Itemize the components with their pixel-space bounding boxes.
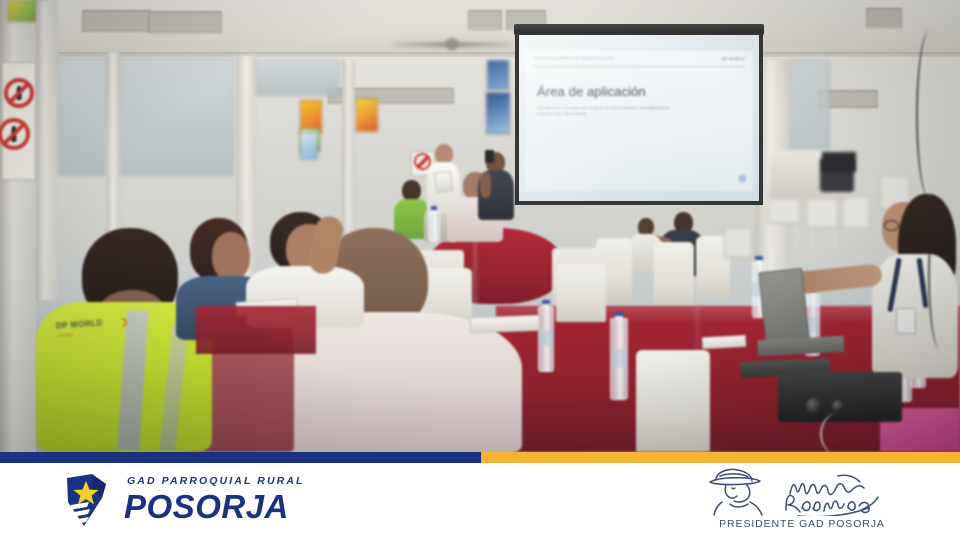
wall-artwork — [486, 92, 510, 134]
cable — [928, 200, 952, 350]
dp-world-logo: DP WORLD — [722, 56, 745, 61]
ceiling-fan-hub — [446, 38, 458, 50]
person-face — [212, 232, 250, 280]
plastic-chair — [724, 228, 752, 258]
gad-posorja-brand: GAD PARROQUIAL RURAL POSORJA — [62, 472, 305, 527]
footer: GAD PARROQUIAL RURAL POSORJA — [0, 452, 960, 540]
meeting-photo: Política de Responsabilidad Social y Rel… — [0, 0, 960, 452]
shield-star-icon — [62, 472, 114, 527]
person-head — [402, 180, 421, 201]
president-signature-block: PRESIDENTE GAD POSORJA — [702, 464, 902, 530]
footer-bar-gold — [481, 452, 960, 463]
eyeglasses — [884, 220, 899, 231]
screenshot-root: Política de Responsabilidad Social y Rel… — [0, 0, 960, 540]
projection-screen: Política de Responsabilidad Social y Rel… — [519, 35, 759, 201]
bottle-label — [610, 349, 628, 368]
stacked-plastic-chair — [842, 196, 870, 228]
id-badge — [896, 308, 916, 334]
slide-divider — [533, 66, 745, 67]
bottle-cap — [542, 300, 550, 304]
water-bottle — [538, 300, 554, 372]
papers-on-table — [470, 315, 541, 333]
laptop-screen — [758, 268, 809, 346]
papers-on-table — [702, 335, 747, 349]
pedestrian-glyph — [17, 86, 22, 100]
chair-leg — [810, 226, 812, 250]
person-arm — [480, 172, 491, 198]
chair-leg — [796, 222, 798, 248]
bottle-cap — [431, 206, 437, 210]
wall-tv — [822, 152, 856, 172]
projector-control-knob — [832, 400, 844, 412]
president-label: PRESIDENTE GAD POSORJA — [719, 518, 885, 530]
no-pedestrian-prohibition-sign — [4, 78, 34, 108]
window-pane — [256, 60, 340, 96]
slide-corner-mark — [739, 175, 746, 182]
projector-lens — [806, 398, 822, 414]
held-papers — [434, 171, 454, 193]
wall-artwork — [487, 60, 509, 90]
wall-artwork — [300, 132, 318, 160]
footer-bar-navy — [0, 452, 481, 463]
cable — [916, 30, 944, 200]
chair-leg — [834, 226, 836, 250]
power-cable — [820, 412, 860, 452]
window-pane — [58, 58, 106, 176]
slide-body-text: Los sujetos de esta política son los gru… — [537, 105, 671, 118]
man-with-hat-icon — [702, 464, 902, 516]
ceiling-vent — [468, 10, 502, 30]
window-pane — [120, 58, 234, 176]
bottle-cap — [614, 312, 623, 316]
standing-presenter — [425, 144, 461, 214]
pedestrian-glyph — [11, 126, 16, 141]
slide-eyebrow-text: Política de Responsabilidad Social y Rel… — [534, 57, 614, 60]
brand-text-block: GAD PARROQUIAL RURAL POSORJA — [124, 476, 305, 523]
left-table-red-cloth — [196, 306, 316, 354]
covered-chair — [636, 350, 710, 452]
ceiling-vent — [148, 11, 222, 33]
presentation-slide: Política de Responsabilidad Social y Rel… — [525, 51, 753, 191]
phone-device — [485, 150, 494, 163]
ceiling-vent — [82, 10, 150, 32]
chair-leg — [772, 222, 774, 248]
water-bottle — [610, 312, 628, 400]
slide-title: Área de aplicación — [537, 84, 646, 99]
covered-chair — [654, 242, 694, 308]
attendee-with-phone — [478, 150, 514, 220]
brand-title: POSORJA — [124, 490, 305, 523]
bottle-label — [538, 330, 554, 346]
brand-subtitle: GAD PARROQUIAL RURAL — [127, 476, 305, 487]
bottle-cap — [755, 256, 762, 260]
person-head — [435, 144, 453, 164]
ceiling-vent — [866, 8, 902, 28]
wall-artwork — [356, 98, 378, 132]
covered-chair — [556, 264, 606, 322]
